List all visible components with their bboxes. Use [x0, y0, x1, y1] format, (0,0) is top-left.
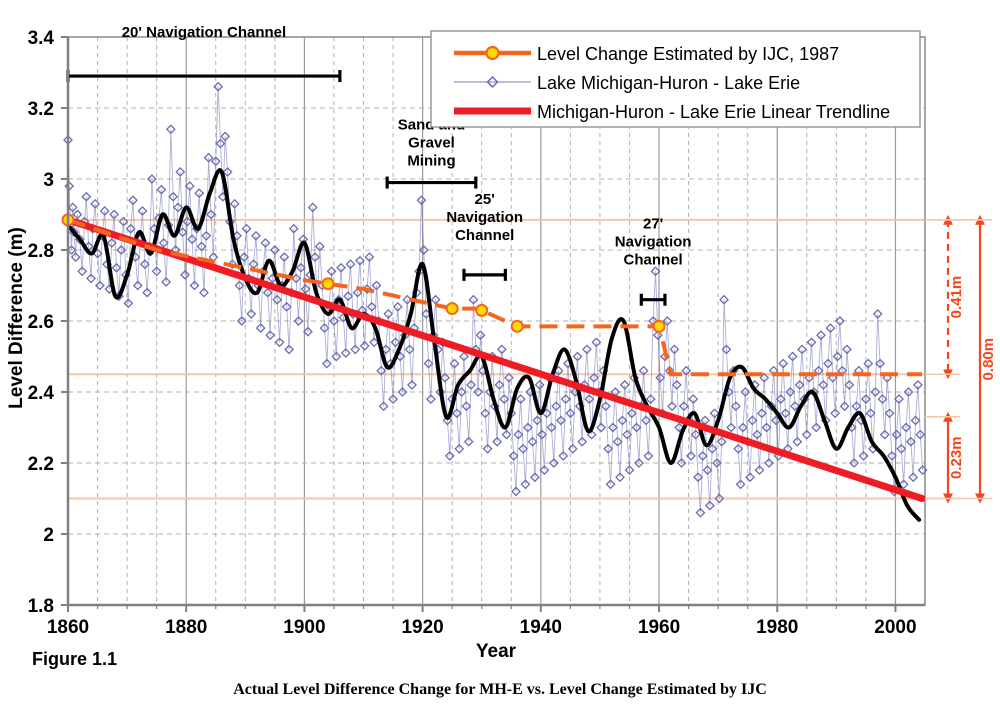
annotation-label-nav-25: Navigation: [446, 209, 523, 226]
legend-label-1: Lake Michigan-Huron - Lake Erie: [537, 73, 800, 93]
annotation-label-nav-27: Channel: [624, 252, 683, 269]
y-axis-title: Level Difference (m): [6, 227, 27, 409]
y-tick-label: 3.4: [28, 28, 55, 49]
ijc-estimate-marker: [323, 278, 334, 289]
ijc-estimate-marker: [654, 321, 665, 332]
ijc-estimate-marker: [476, 305, 487, 316]
chart-legend[interactable]: Level Change Estimated by IJC, 1987Lake …: [431, 31, 920, 127]
legend-label-0: Level Change Estimated by IJC, 1987: [537, 44, 839, 64]
annotation-label-sand-gravel: Mining: [407, 152, 455, 169]
x-tick-label: 1880: [165, 617, 207, 638]
annotation-label-sand-gravel: Gravel: [408, 134, 455, 151]
y-tick-label: 2.2: [28, 454, 54, 475]
annotation-label-nav-25: 25': [475, 191, 495, 208]
figure-container: 20' Navigation ChannelSand andGravelMini…: [0, 0, 1000, 709]
x-tick-label: 1940: [520, 617, 562, 638]
annotation-label-nav-25: Channel: [455, 227, 514, 244]
x-tick-label: 1860: [47, 617, 89, 638]
legend-key-ijc-marker: [487, 47, 499, 59]
y-tick-label: 2.6: [28, 312, 54, 333]
x-axis-title: Year: [476, 641, 517, 662]
ijc-estimate-marker: [512, 321, 523, 332]
annotation-label-nav-20: 20' Navigation Channel: [122, 24, 286, 41]
y-tick-label: 3: [43, 170, 54, 191]
y-tick-label: 1.8: [28, 596, 54, 617]
measurement-label-m023: 0.23m: [948, 436, 965, 479]
ijc-estimate-marker: [447, 303, 458, 314]
figure-number: Figure 1.1: [32, 649, 117, 669]
measurement-label-m041: 0.41m: [948, 276, 965, 319]
legend-label-2: Michigan-Huron - Lake Erie Linear Trendl…: [537, 102, 890, 122]
y-tick-label: 2: [43, 525, 54, 546]
x-tick-label: 1920: [401, 617, 443, 638]
y-tick-label: 2.8: [28, 241, 54, 262]
annotation-label-nav-27: 27': [643, 216, 663, 233]
level-difference-chart: 20' Navigation ChannelSand andGravelMini…: [0, 0, 1000, 709]
measurement-label-m080: 0.80m: [980, 338, 997, 381]
y-tick-label: 3.2: [28, 99, 54, 120]
x-tick-label: 2000: [874, 617, 916, 638]
y-tick-label: 2.4: [28, 383, 55, 404]
figure-caption: Actual Level Difference Change for MH-E …: [233, 681, 767, 698]
x-tick-label: 1960: [638, 617, 680, 638]
x-tick-label: 1980: [756, 617, 798, 638]
x-tick-label: 1900: [283, 617, 325, 638]
annotation-label-nav-27: Navigation: [615, 234, 692, 251]
